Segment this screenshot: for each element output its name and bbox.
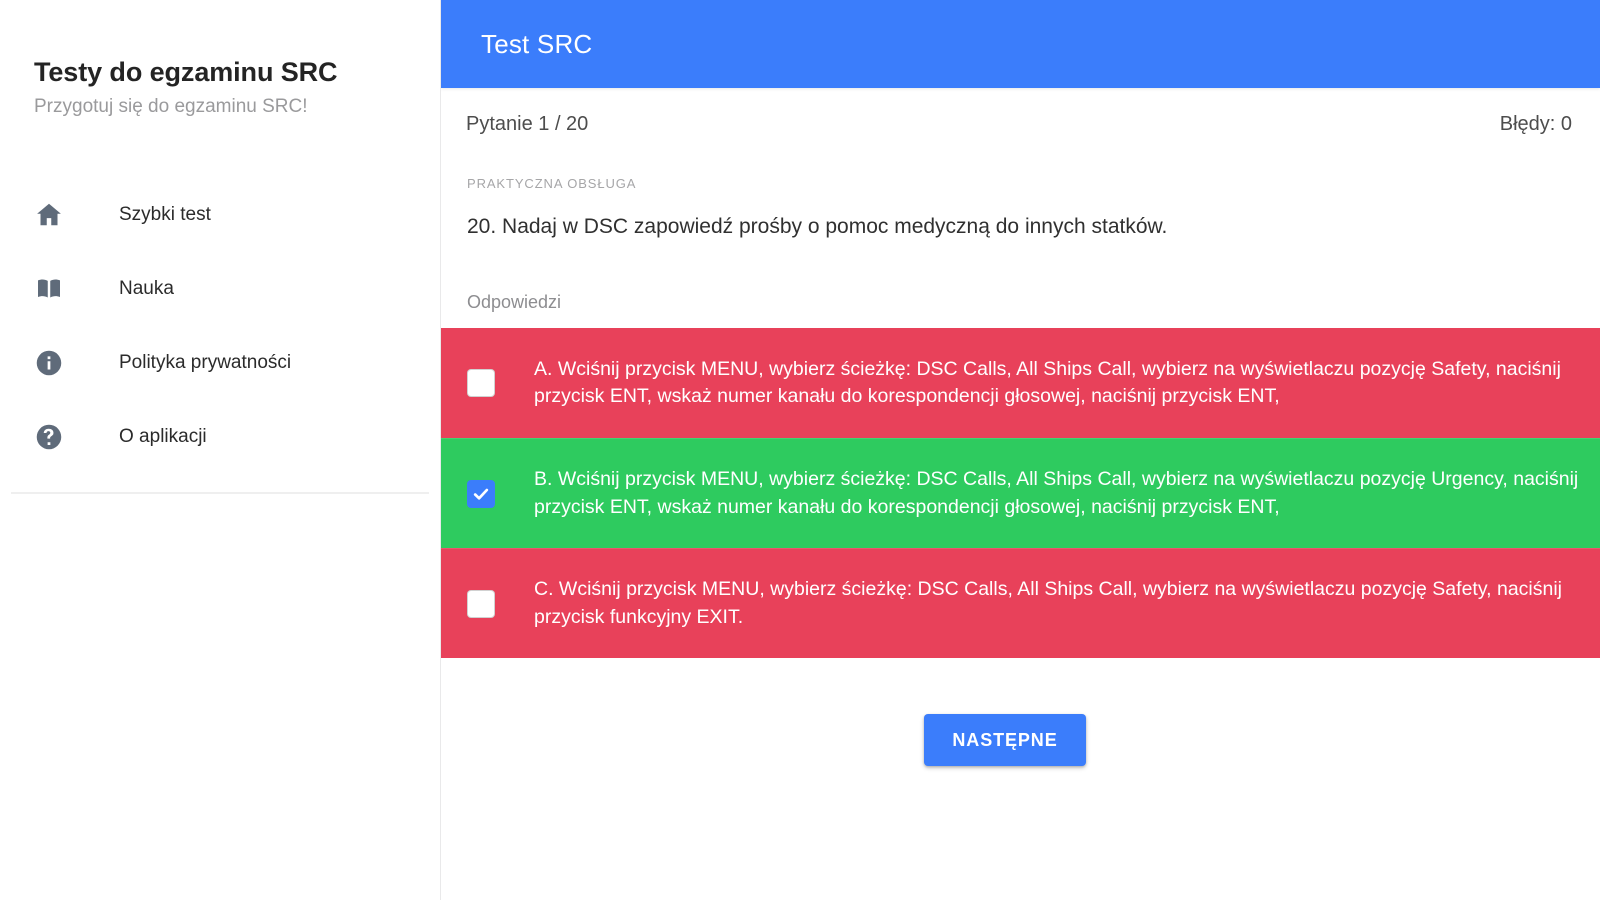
answer-checkbox-a[interactable] bbox=[467, 369, 495, 397]
home-icon bbox=[34, 200, 70, 230]
sidebar-item-nauka[interactable]: Nauka bbox=[0, 252, 440, 326]
page-title: Test SRC bbox=[481, 29, 592, 60]
app-title: Testy do egzaminu SRC bbox=[34, 56, 406, 88]
sidebar: Testy do egzaminu SRC Przygotuj się do e… bbox=[0, 0, 441, 900]
info-icon bbox=[34, 348, 70, 378]
brand: Testy do egzaminu SRC Przygotuj się do e… bbox=[0, 56, 440, 120]
app-bar: Test SRC bbox=[441, 0, 1600, 88]
sidebar-item-szybki-test[interactable]: Szybki test bbox=[0, 178, 440, 252]
answers-list: A. Wciśnij przycisk MENU, wybierz ścieżk… bbox=[441, 328, 1600, 658]
sidebar-item-label: Nauka bbox=[119, 278, 174, 300]
question-category: PRAKTYCZNA OBSŁUGA bbox=[467, 176, 1600, 191]
next-button[interactable]: NASTĘPNE bbox=[924, 714, 1085, 766]
app-root: Testy do egzaminu SRC Przygotuj się do e… bbox=[0, 0, 1600, 900]
help-icon bbox=[34, 422, 70, 452]
sidebar-item-label: O aplikacji bbox=[119, 426, 207, 448]
answer-option-a[interactable]: A. Wciśnij przycisk MENU, wybierz ścieżk… bbox=[441, 328, 1600, 438]
sidebar-item-label: Szybki test bbox=[119, 204, 211, 226]
answer-text-c: C. Wciśnij przycisk MENU, wybierz ścieżk… bbox=[534, 576, 1596, 631]
book-icon bbox=[34, 274, 70, 304]
sidebar-nav: Szybki test Nauka Polityka prywatno bbox=[0, 178, 440, 474]
answer-option-c[interactable]: C. Wciśnij przycisk MENU, wybierz ścieżk… bbox=[441, 548, 1600, 658]
answer-checkbox-c[interactable] bbox=[467, 590, 495, 618]
error-count: Błędy: 0 bbox=[1500, 113, 1572, 136]
sidebar-divider bbox=[11, 492, 429, 494]
question-text: 20. Nadaj w DSC zapowiedź prośby o pomoc… bbox=[467, 213, 1574, 241]
answer-text-a: A. Wciśnij przycisk MENU, wybierz ścieżk… bbox=[534, 356, 1596, 411]
sidebar-item-label: Polityka prywatności bbox=[119, 352, 291, 374]
main-content: Test SRC Pytanie 1 / 20 Błędy: 0 PRAKTYC… bbox=[441, 0, 1600, 900]
question-progress: Pytanie 1 / 20 bbox=[466, 113, 588, 136]
sidebar-item-polityka-prywatnosci[interactable]: Polityka prywatności bbox=[0, 326, 440, 400]
answer-option-b[interactable]: B. Wciśnij przycisk MENU, wybierz ścieżk… bbox=[441, 438, 1600, 548]
answer-checkbox-b[interactable] bbox=[467, 480, 495, 508]
app-subtitle: Przygotuj się do egzaminu SRC! bbox=[34, 95, 406, 120]
status-row: Pytanie 1 / 20 Błędy: 0 bbox=[441, 88, 1600, 136]
sidebar-item-o-aplikacji[interactable]: O aplikacji bbox=[0, 400, 440, 474]
footer: NASTĘPNE bbox=[441, 658, 1569, 766]
answer-text-b: B. Wciśnij przycisk MENU, wybierz ścieżk… bbox=[534, 466, 1596, 521]
answers-label: Odpowiedzi bbox=[467, 292, 1600, 313]
